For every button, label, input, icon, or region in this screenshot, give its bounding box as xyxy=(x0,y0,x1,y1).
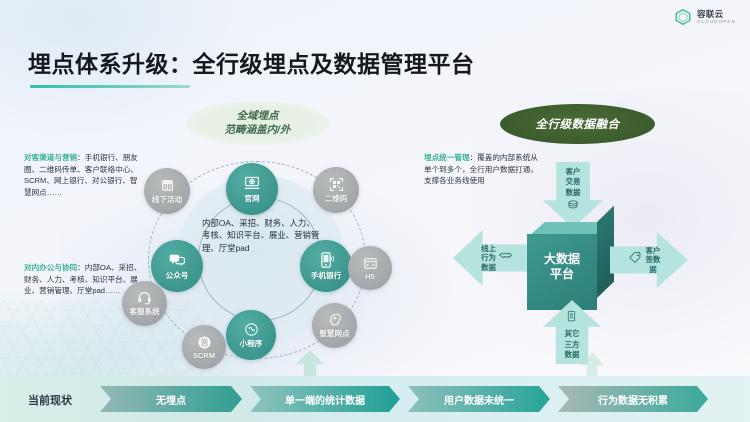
pill-quanyu-maidian: 全域埋点 范畴涵盖内/外 xyxy=(186,101,329,145)
bigdata-platform-diagram: 客户 交易 数据 线上 行为 数据 xyxy=(455,160,700,365)
node-zhihuiwangdian-label: 智慧网点 xyxy=(319,328,349,339)
arrow-bottom-line1: 其它 xyxy=(565,329,580,339)
contact-card-icon xyxy=(197,335,212,350)
node-xiaochengxu[interactable]: 小程序 xyxy=(226,310,276,360)
bigdata-cube: 大数据 平台 xyxy=(527,222,615,310)
node-shoujiyinhang[interactable]: 手机银行 xyxy=(300,240,352,292)
status-chip-2[interactable]: 用户数据未统一 xyxy=(408,386,550,412)
pill-quanhangji-shuju: 全行级数据融合 xyxy=(500,104,655,144)
node-erweima[interactable]: 二维码 xyxy=(313,167,359,213)
arrow-left-line1: 线上 xyxy=(481,244,496,254)
mini-program-icon xyxy=(244,322,259,337)
arrow-bottom-line3: 数据 xyxy=(565,350,580,360)
node-shoujiyinhang-label: 手机银行 xyxy=(311,270,341,281)
node-gongzhonghao[interactable]: 公众号 xyxy=(151,240,203,292)
brand-logo: 容联云 CLOUDOPEN xyxy=(674,8,736,26)
arrow-left-line3: 数据 xyxy=(481,263,496,273)
storefront-icon xyxy=(160,178,175,193)
note-internal-highlight: 对内办公与协同 xyxy=(24,263,77,272)
pill-left-line1: 全域埋点 xyxy=(237,109,279,123)
pill-left-line2: 范畴涵盖内/外 xyxy=(225,123,291,137)
node-xiaochengxu-label: 小程序 xyxy=(240,338,263,349)
user-card-icon xyxy=(565,310,578,328)
node-xianxiahuodong-label: 线下活动 xyxy=(152,194,182,205)
coins-stack-icon xyxy=(566,198,580,217)
note-channel-highlight: 对客渠道与营销 xyxy=(24,153,77,162)
headset-icon xyxy=(137,290,152,305)
node-kefuxitong-label: 客服系统 xyxy=(129,306,159,317)
chat-bubbles-icon xyxy=(168,251,186,269)
hexagon-logo-icon xyxy=(674,8,692,26)
slide-root: 容联云 CLOUDOPEN 埋点体系升级：全行级埋点及数据管理平台 全域埋点 范… xyxy=(0,0,750,422)
note-internal-sep: ： xyxy=(77,263,85,272)
arrow-right-line1: 客户 xyxy=(646,246,661,256)
arrow-customer-transaction-data: 客户 交易 数据 xyxy=(543,162,603,228)
logo-text-cn: 容联云 xyxy=(697,10,736,19)
arrow-right-line3: 据 xyxy=(649,265,656,275)
arrow-right-line2: 签数 xyxy=(646,255,661,265)
logo-text-en: CLOUDOPEN xyxy=(697,20,736,25)
arrow-left-line2: 行为 xyxy=(481,253,496,263)
note-channel-sep: ： xyxy=(77,153,85,162)
title-underline xyxy=(30,85,190,88)
cube-label-line1: 大数据 xyxy=(544,252,580,266)
node-scrm-label: SCRM xyxy=(193,351,215,360)
status-chip-1[interactable]: 单一端的统计数据 xyxy=(250,386,400,412)
qr-code-icon xyxy=(329,177,344,192)
status-strip-label: 当前现状 xyxy=(28,392,72,408)
node-h5[interactable]: H5 xyxy=(348,246,392,290)
node-zhihuiwangdian[interactable]: 智慧网点 xyxy=(312,303,357,348)
node-gongzhonghao-label: 公众号 xyxy=(166,270,189,281)
pill-right-label: 全行级数据融合 xyxy=(536,116,620,132)
status-strip: 当前现状 无埋点 单一端的统计数据 用户数据未统一 行为数据无积累 xyxy=(0,376,750,422)
arrow-online-behavior-data: 线上 行为 数据 xyxy=(453,230,527,286)
bigdata-cube-label: 大数据 平台 xyxy=(527,252,597,282)
arrow-top-line2: 交易 xyxy=(566,177,581,187)
smart-head-icon xyxy=(327,312,342,327)
status-chip-3[interactable]: 行为数据无积累 xyxy=(558,386,708,412)
handshake-icon xyxy=(498,248,513,268)
arrow-bottom-line2: 三方 xyxy=(565,340,580,350)
arrow-top-line3: 数据 xyxy=(566,188,581,198)
arrow-customer-tag-data: 客户 签数 据 xyxy=(610,232,688,288)
status-chip-0[interactable]: 无埋点 xyxy=(100,386,242,412)
node-guanwang[interactable]: 官网 xyxy=(226,163,278,215)
node-h5-label: H5 xyxy=(365,272,375,281)
mobile-phone-icon xyxy=(317,251,335,269)
note-channel-marketing: 对客渠道与营销：手机银行、朋友圈、二维码传单、客户联络中心、SCRM、网上银行、… xyxy=(24,152,144,198)
tag-label-icon xyxy=(628,250,643,270)
node-scrm[interactable]: SCRM xyxy=(182,325,226,369)
page-title: 埋点体系升级：全行级埋点及数据管理平台 xyxy=(28,45,475,79)
laptop-globe-icon xyxy=(243,174,261,192)
browser-window-icon xyxy=(363,256,378,271)
node-erweima-label: 二维码 xyxy=(325,193,348,204)
arrow-top-line1: 客户 xyxy=(566,167,581,177)
node-guanwang-label: 官网 xyxy=(244,193,259,204)
cube-label-line2: 平台 xyxy=(550,267,574,281)
node-xianxiahuodong[interactable]: 线下活动 xyxy=(144,168,190,214)
node-kefuxitong[interactable]: 客服系统 xyxy=(122,281,167,326)
